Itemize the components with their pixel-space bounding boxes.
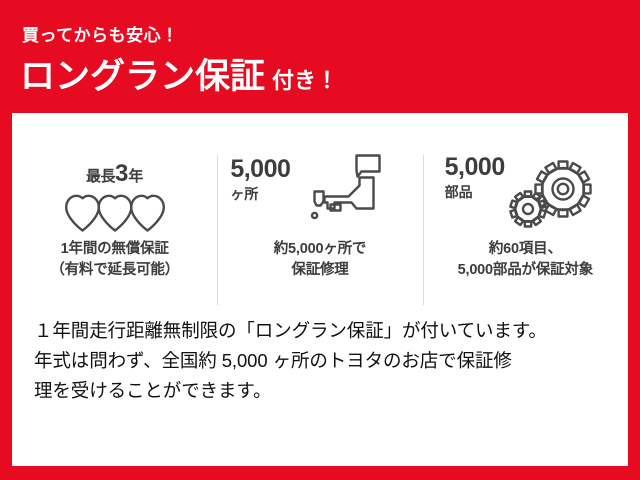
feature-graphic-hearts: 最長3年 xyxy=(12,113,217,233)
content-panel: 最長3年 1年間の無償保証 （有料で延長可能） xyxy=(12,113,628,466)
feature-graphic-japan-map: 5,000 ヶ所 xyxy=(217,113,422,233)
feature-caption-line1: 約5,000ヶ所で xyxy=(217,239,422,260)
feature-caption-covered-parts: 約60項目、 5,000部品が保証対象 xyxy=(423,239,628,280)
hearts-headline: 最長3年 xyxy=(12,162,217,186)
locations-headline-number: 5,000 xyxy=(230,157,290,182)
header-title: ロングラン保証付き！ xyxy=(20,59,338,94)
description-text: １年間走行距離無制限の「ロングラン保証」が付いています。 年式は問わず、全国約 … xyxy=(12,316,628,406)
longrun-warranty-banner: 買ってからも安心！ ロングラン保証付き！ 最長3年 xyxy=(0,0,640,480)
feature-columns: 最長3年 1年間の無償保証 （有料で延長可能） xyxy=(12,113,628,313)
parts-headline-number: 5,000 xyxy=(445,155,505,180)
feature-caption-warranty-period: 1年間の無償保証 （有料で延長可能） xyxy=(12,239,217,280)
three-hearts-icon xyxy=(63,189,167,233)
hearts-headline-suffix: 年 xyxy=(128,168,143,185)
hearts-headline-prefix: 最長 xyxy=(86,168,115,185)
japan-map-icon xyxy=(311,153,383,231)
locations-headline-unit: ヶ所 xyxy=(230,187,290,201)
banner-header: 買ってからも安心！ ロングラン保証付き！ xyxy=(0,0,640,113)
feature-graphic-gears: 5,000 部品 xyxy=(423,113,628,233)
locations-headline: 5,000 ヶ所 xyxy=(230,157,290,201)
feature-warranty-period: 最長3年 1年間の無償保証 （有料で延長可能） xyxy=(12,113,217,313)
feature-caption-line1: 約60項目、 xyxy=(423,239,628,260)
feature-service-locations: 5,000 ヶ所 xyxy=(217,113,422,313)
feature-covered-parts: 5,000 部品 xyxy=(423,113,628,313)
gears-icon xyxy=(511,161,595,235)
feature-caption-line2: （有料で延長可能） xyxy=(12,260,217,281)
description-line-3: 理を受けることができます。 xyxy=(34,376,614,406)
hearts-headline-number: 3 xyxy=(115,160,128,187)
header-title-sub: 付き！ xyxy=(272,68,338,93)
feature-caption-line2: 保証修理 xyxy=(217,260,422,281)
feature-caption-line2: 5,000部品が保証対象 xyxy=(423,260,628,281)
feature-caption-line1: 1年間の無償保証 xyxy=(12,239,217,260)
header-kicker-text: 買ってからも安心！ xyxy=(22,27,179,44)
parts-headline-unit: 部品 xyxy=(445,185,505,199)
parts-headline: 5,000 部品 xyxy=(445,155,505,199)
description-line-2: 年式は問わず、全国約 5,000 ヶ所のトヨタのお店で保証修 xyxy=(34,346,614,376)
description-line-1: １年間走行距離無制限の「ロングラン保証」が付いています。 xyxy=(34,316,614,346)
header-title-main: ロングラン保証 xyxy=(20,57,265,96)
feature-caption-service-locations: 約5,000ヶ所で 保証修理 xyxy=(217,239,422,280)
